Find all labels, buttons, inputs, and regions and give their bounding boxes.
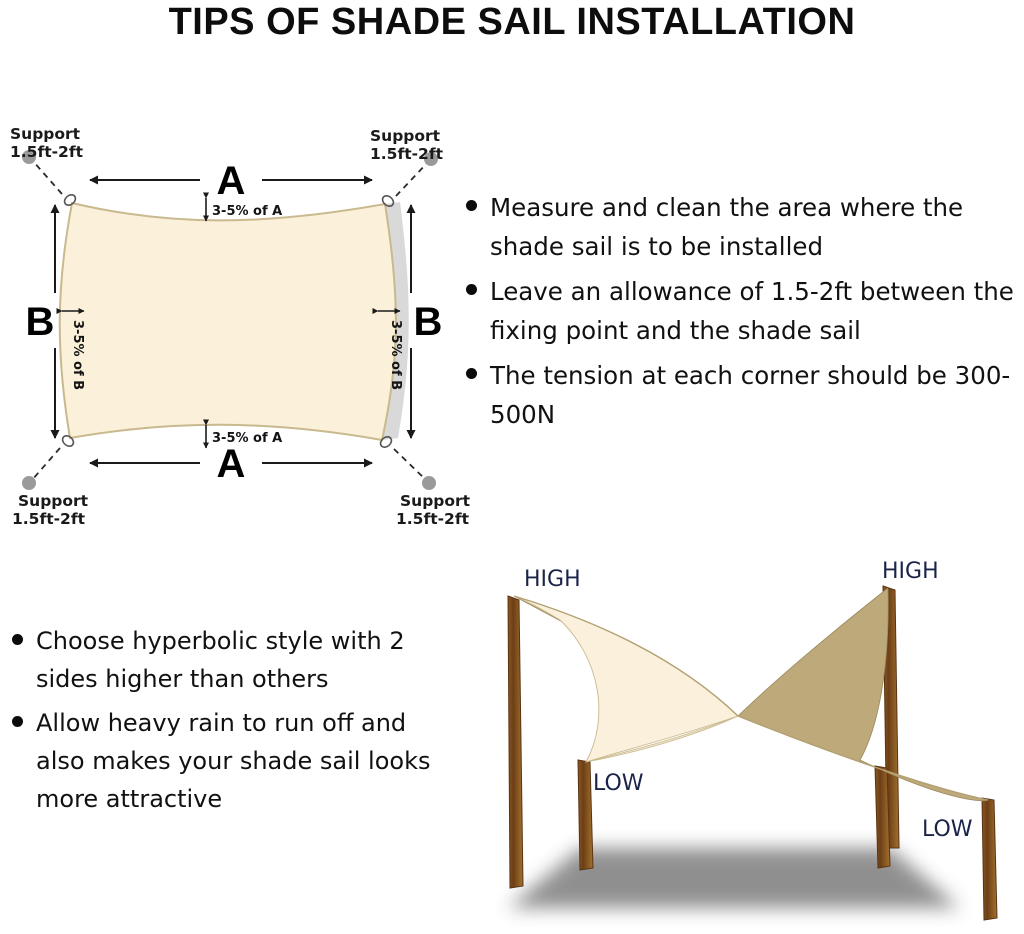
tip-text: Measure and clean the area where the sha… <box>490 188 1024 266</box>
sag-label-left: 3-5% of B <box>70 320 85 390</box>
post-left-low <box>578 760 593 870</box>
hyperbolic-sail-diagram: HIGH HIGH LOW LOW <box>460 548 1024 934</box>
tip-text: Leave an allowance of 1.5-2ft between th… <box>490 272 1024 350</box>
sag-label-bottom: 3-5% of A <box>212 431 282 446</box>
svg-text:1.5ft-2ft: 1.5ft-2ft <box>396 510 470 528</box>
dimension-label-b-left: B <box>26 300 55 344</box>
support-label-top-left: Support 1.5ft-2ft <box>10 125 84 161</box>
tip-text: The tension at each corner should be 300… <box>490 356 1024 434</box>
dimension-label-a-top: A <box>217 159 246 203</box>
support-label-bottom-right: Support 1.5ft-2ft <box>396 492 471 528</box>
tip-text: Allow heavy rain to run off and also mak… <box>36 704 454 818</box>
tip-text: Choose hyperbolic style with 2 sides hig… <box>36 622 454 698</box>
label-high-left: HIGH <box>524 567 581 592</box>
bullet-dot-icon <box>466 284 477 295</box>
svg-text:Support: Support <box>400 492 471 510</box>
support-label-bottom-left: Support 1.5ft-2ft <box>12 492 89 528</box>
list-item: Allow heavy rain to run off and also mak… <box>4 704 454 818</box>
page-title: TIPS OF SHADE SAIL INSTALLATION <box>0 0 1024 44</box>
sag-label-top: 3-5% of A <box>212 204 282 219</box>
bullet-dot-icon <box>466 368 477 379</box>
ground-shadow <box>508 848 960 908</box>
svg-text:Support: Support <box>10 125 81 143</box>
svg-text:Support: Support <box>370 127 441 145</box>
bullet-dot-icon <box>466 200 477 211</box>
sail-surface-light <box>514 596 738 762</box>
post-mid-low <box>875 766 890 868</box>
svg-text:1.5ft-2ft: 1.5ft-2ft <box>12 510 86 528</box>
list-item: Measure and clean the area where the sha… <box>458 188 1024 266</box>
installation-tips-lower-list: Choose hyperbolic style with 2 sides hig… <box>4 622 454 862</box>
post-left-high <box>508 596 523 888</box>
label-high-right: HIGH <box>882 559 939 584</box>
rectangular-sail-diagram: Support 1.5ft-2ft Support 1.5ft-2ft Supp… <box>0 108 460 518</box>
svg-text:Support: Support <box>18 492 89 510</box>
bullet-dot-icon <box>12 634 23 645</box>
label-low-left: LOW <box>593 771 644 796</box>
svg-text:1.5ft-2ft: 1.5ft-2ft <box>370 145 444 163</box>
sag-label-right: 3-5% of B <box>388 320 403 390</box>
post-right-low <box>982 798 997 920</box>
list-item: Choose hyperbolic style with 2 sides hig… <box>4 622 454 698</box>
label-low-right: LOW <box>922 817 973 842</box>
svg-text:1.5ft-2ft: 1.5ft-2ft <box>10 143 84 161</box>
installation-tips-upper-list: Measure and clean the area where the sha… <box>458 188 1024 468</box>
support-label-top-right: Support 1.5ft-2ft <box>370 127 444 163</box>
list-item: The tension at each corner should be 300… <box>458 356 1024 434</box>
shade-sail-shape <box>60 203 396 440</box>
dimension-label-a-bottom: A <box>217 442 246 486</box>
bullet-dot-icon <box>12 716 23 727</box>
dimension-label-b-right: B <box>414 300 443 344</box>
list-item: Leave an allowance of 1.5-2ft between th… <box>458 272 1024 350</box>
